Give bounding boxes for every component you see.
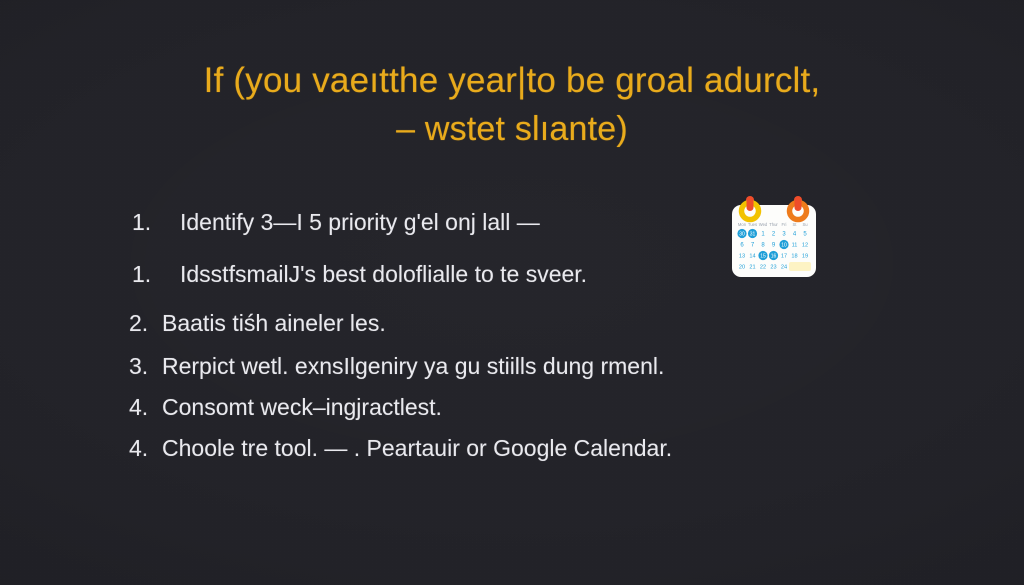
list-item-text: Identify 3—I 5 priority g'el onj lall —	[180, 208, 540, 236]
svg-text:17: 17	[781, 254, 787, 260]
list-item-text: Rerpict wetl. exnsIlgeniry ya gu stiills…	[162, 352, 664, 380]
svg-text:Su: Su	[802, 222, 808, 227]
svg-text:Mon: Mon	[738, 222, 747, 227]
list-item-marker: 1.	[132, 208, 168, 236]
list-item-text: Consomt weck–ingjractlest.	[162, 393, 442, 421]
list-item-marker: 1.	[132, 260, 168, 288]
svg-text:19: 19	[802, 254, 808, 260]
list-item: 3. Rerpict wetl. exnsIlgeniry ya gu stii…	[129, 352, 892, 380]
list-item: 2. Baatis tiśh aineler les.	[129, 309, 892, 337]
slide-title: If (you vaeıtthe year|to be groal adurcl…	[0, 58, 1024, 152]
svg-text:21: 21	[749, 264, 755, 270]
list-item: 4. Choole tre tool. — . Peartauir or Goo…	[129, 434, 892, 462]
svg-text:30: 30	[739, 231, 745, 237]
svg-text:Thur: Thur	[769, 222, 778, 227]
calendar-highlight-cell	[789, 262, 811, 271]
list-item-marker: 4.	[129, 434, 157, 462]
title-line-1: If (you vaeıtthe year|to be groal adurcl…	[0, 58, 1024, 104]
svg-text:Fri: Fri	[782, 222, 787, 227]
list-item: 4. Consomt weck–ingjractlest.	[129, 393, 892, 421]
svg-text:15: 15	[760, 253, 766, 259]
svg-text:10: 10	[781, 242, 787, 248]
svg-text:12: 12	[802, 243, 808, 249]
svg-text:23: 23	[770, 264, 776, 270]
list-item-text: Choole tre tool. — . Peartauir or Google…	[162, 434, 672, 462]
list-item-marker: 2.	[129, 309, 157, 337]
slide-canvas: If (you vaeıtthe year|to be groal adurcl…	[0, 0, 1024, 585]
list-item-text: Baatis tiśh aineler les.	[162, 309, 386, 337]
svg-text:18: 18	[791, 254, 797, 260]
svg-text:13: 13	[739, 254, 745, 260]
svg-text:14: 14	[749, 254, 755, 260]
svg-text:22: 22	[760, 264, 766, 270]
svg-text:Wed: Wed	[759, 222, 768, 227]
calendar-icon: Mon Tues Wed Thur Fri St Su 30 31 1	[726, 196, 822, 286]
svg-text:11: 11	[792, 243, 798, 249]
list-item-marker: 4.	[129, 393, 157, 421]
svg-text:24: 24	[781, 264, 787, 270]
svg-text:16: 16	[771, 253, 777, 259]
list-item-marker: 3.	[129, 352, 157, 380]
title-line-2: – wstet slıante)	[0, 106, 1024, 152]
svg-text:20: 20	[739, 264, 745, 270]
list-item-text: IdsstfsmailJ's best doloflialle to te sv…	[180, 260, 587, 288]
svg-text:Tues: Tues	[748, 222, 757, 227]
svg-text:31: 31	[750, 231, 756, 237]
